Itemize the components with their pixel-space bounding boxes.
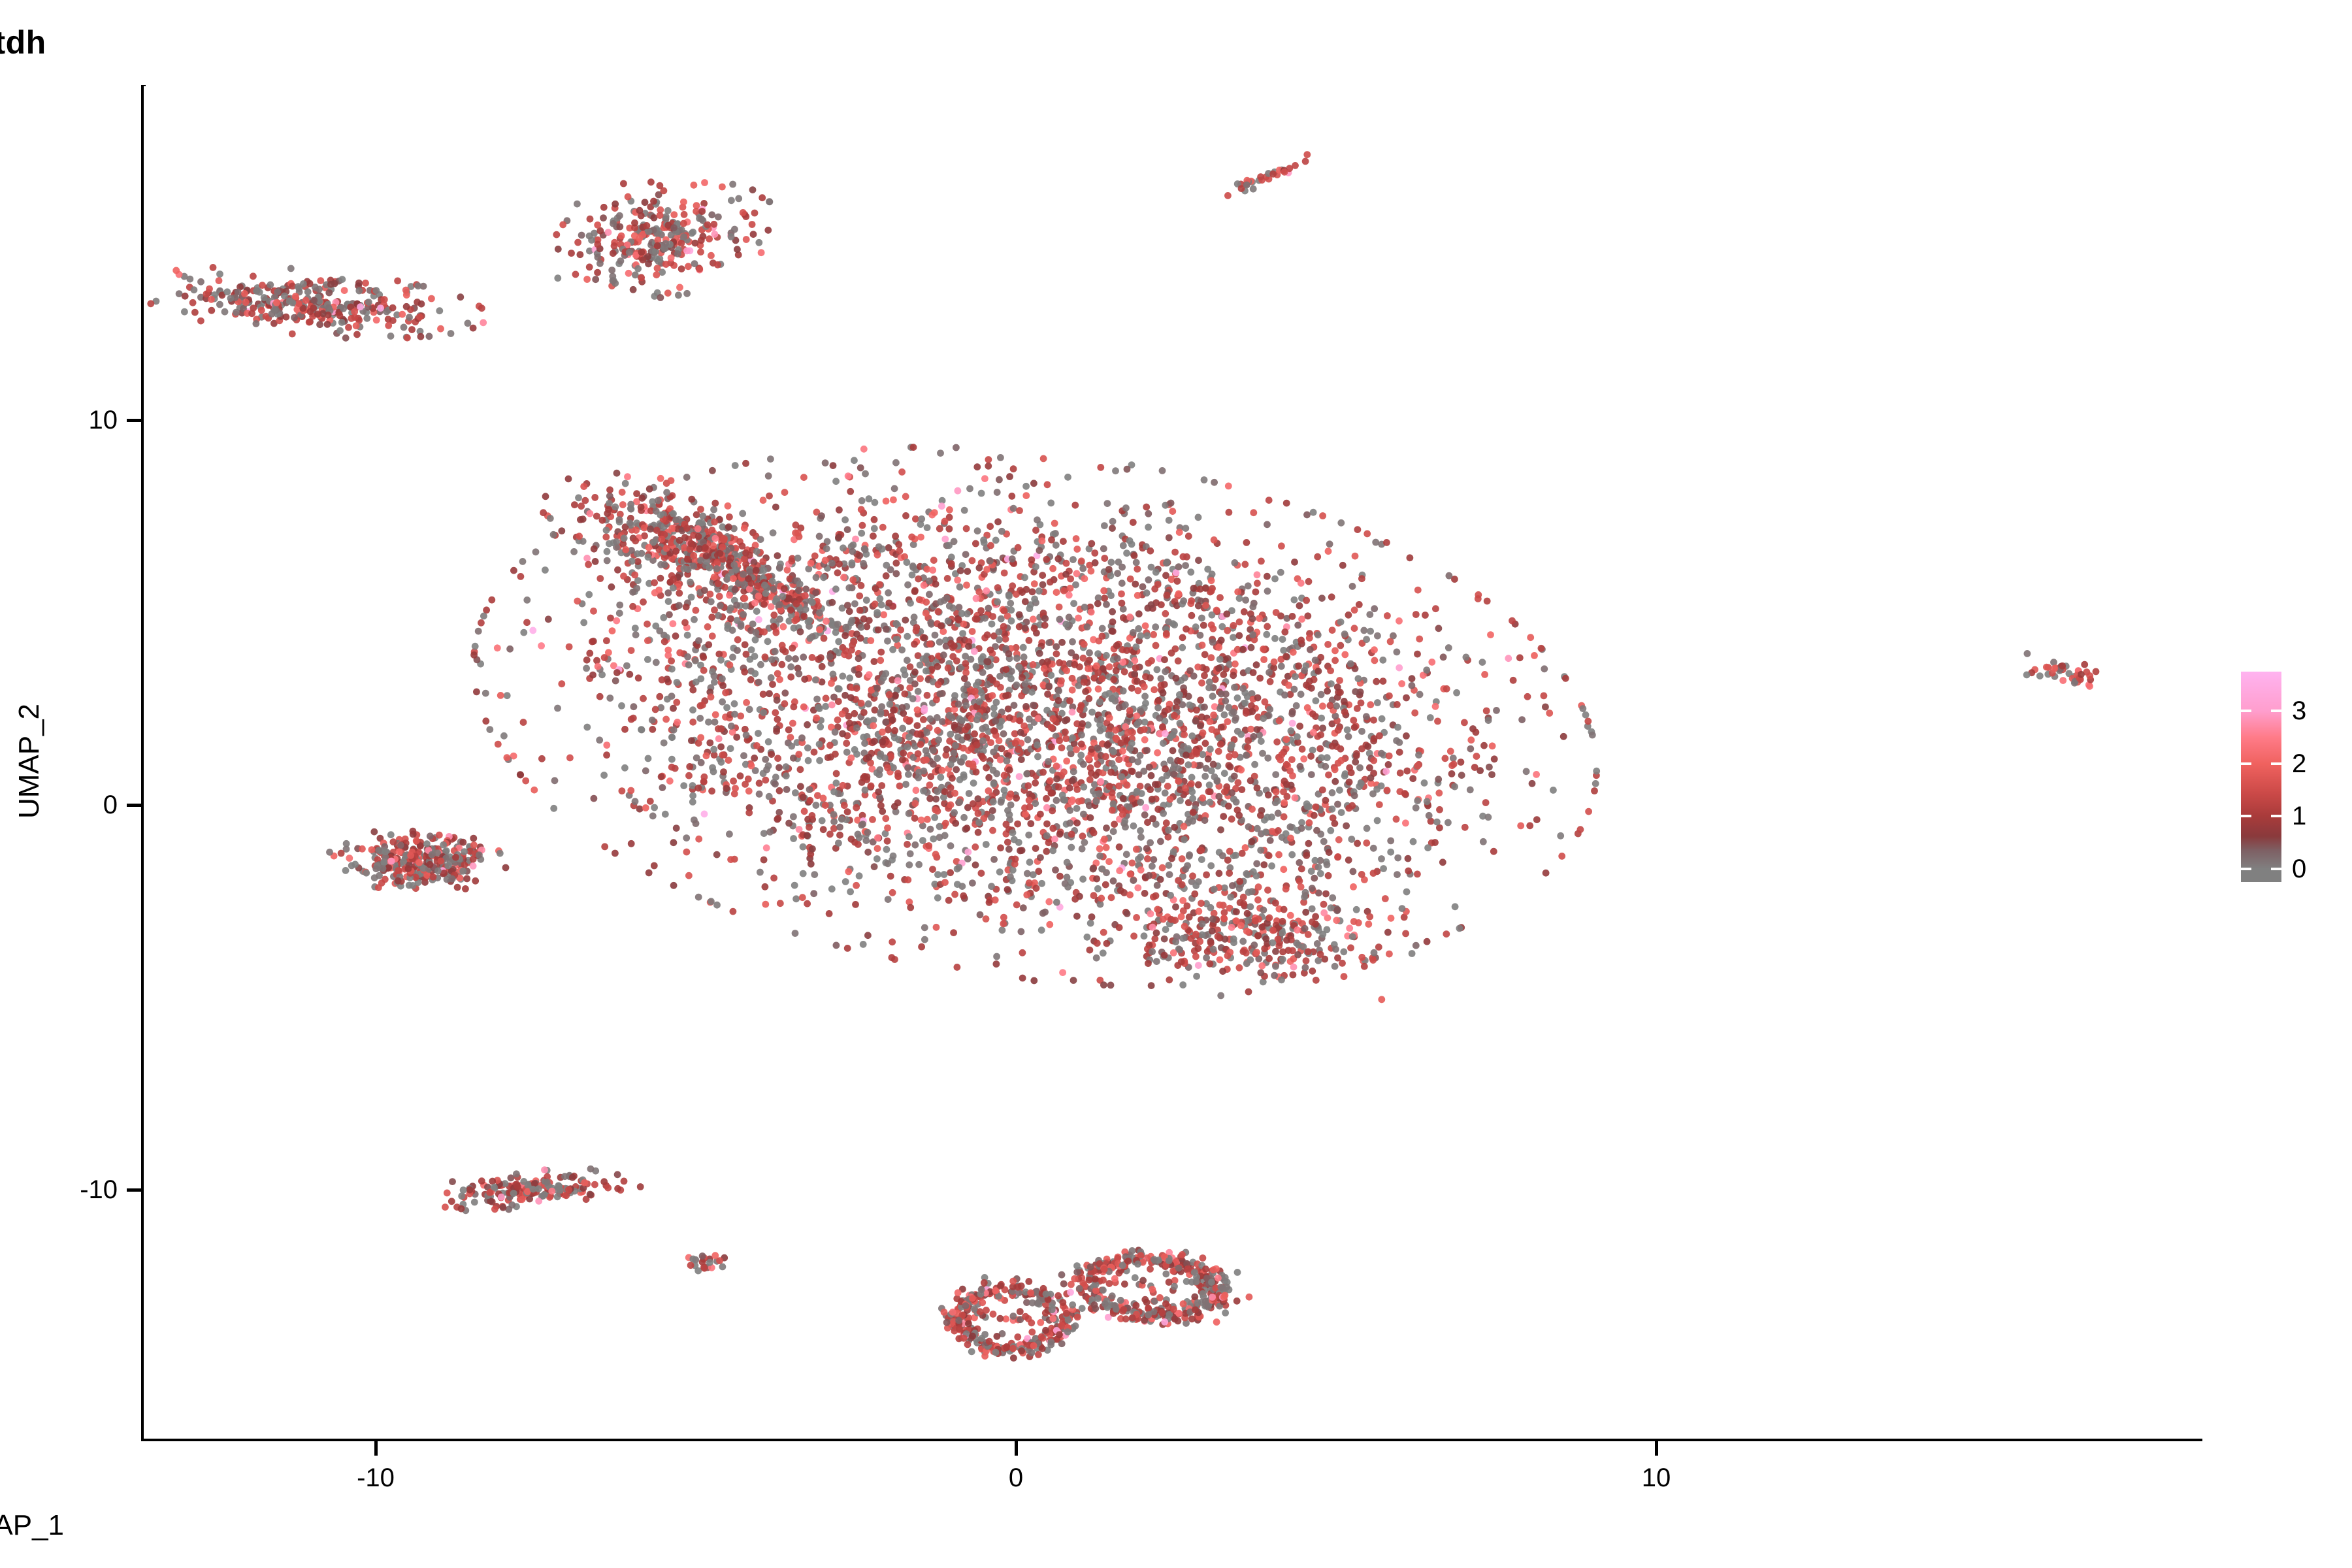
colorbar-gradient xyxy=(2241,672,2281,882)
colorbar-label-1: 1 xyxy=(2292,803,2306,829)
x-tick-label-0: 0 xyxy=(951,1463,1081,1493)
y-tick-10 xyxy=(127,419,141,422)
x-tick-0 xyxy=(1015,1441,1018,1456)
x-tick-10 xyxy=(1655,1441,1658,1456)
y-tick--10 xyxy=(127,1188,141,1192)
y-tick-label-10: 10 xyxy=(0,406,118,435)
colorbar-tick-0 xyxy=(2271,868,2281,870)
colorbar-legend: 0123 xyxy=(2241,672,2345,884)
colorbar-tick-3 xyxy=(2241,710,2251,712)
umap-feature-plot: Mtdh -10010-10010 UMAP_1 UMAP_2 0123 xyxy=(0,0,2352,1568)
x-tick-label--10: -10 xyxy=(310,1463,441,1493)
colorbar-tick-0 xyxy=(2241,868,2251,870)
x-axis-title: UMAP_1 xyxy=(0,1509,1183,1542)
colorbar-tick-2 xyxy=(2271,762,2281,765)
colorbar-label-0: 0 xyxy=(2292,856,2306,882)
colorbar-tick-1 xyxy=(2271,815,2281,817)
colorbar-label-3: 3 xyxy=(2292,698,2306,724)
scatter-points xyxy=(144,86,2202,1439)
colorbar-tick-3 xyxy=(2271,710,2281,712)
colorbar-tick-2 xyxy=(2241,762,2251,765)
y-tick-label--10: -10 xyxy=(0,1175,118,1205)
plot-panel xyxy=(144,86,2202,1439)
y-tick-0 xyxy=(127,804,141,807)
colorbar-tick-1 xyxy=(2241,815,2251,817)
colorbar-label-2: 2 xyxy=(2292,751,2306,777)
y-axis-title: UMAP_2 xyxy=(13,500,46,1022)
x-tick-label-10: 10 xyxy=(1591,1463,1722,1493)
page-title: Mtdh xyxy=(0,24,1183,61)
x-tick--10 xyxy=(374,1441,378,1456)
